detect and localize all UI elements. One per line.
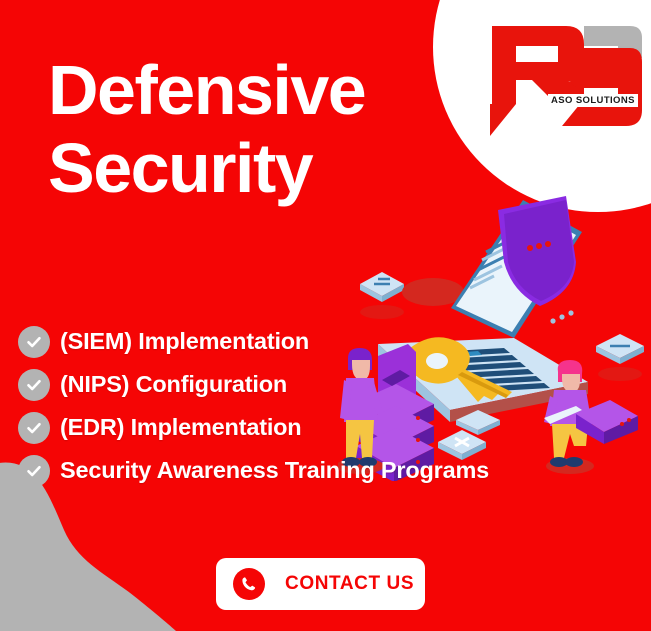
contact-us-label: CONTACT US: [285, 573, 414, 595]
logo-wordmark: ASO SOLUTIONS: [548, 94, 638, 107]
poster-canvas: ASO SOLUTIONS Defensive Security: [0, 0, 651, 631]
phone-icon: [233, 568, 265, 600]
floating-tile-icon: [596, 334, 644, 381]
list-item-label: (EDR) Implementation: [60, 414, 301, 441]
list-item-label: (NIPS) Configuration: [60, 371, 287, 398]
check-circle-icon: [18, 455, 50, 487]
feature-list: (SIEM) Implementation (NIPS) Configurati…: [18, 320, 489, 492]
page-title-line2: Security: [48, 129, 365, 207]
check-circle-icon: [18, 412, 50, 444]
list-item: (SIEM) Implementation: [18, 320, 489, 363]
check-circle-icon: [18, 369, 50, 401]
floating-tile-icon: [360, 272, 404, 319]
list-item: (NIPS) Configuration: [18, 363, 489, 406]
contact-us-button[interactable]: CONTACT US: [216, 558, 425, 610]
list-item: Security Awareness Training Programs: [18, 449, 489, 492]
page-title-line1: Defensive: [48, 51, 365, 129]
page-title: Defensive Security: [48, 51, 365, 207]
rs-monogram-icon: [480, 18, 645, 143]
list-item-label: (SIEM) Implementation: [60, 328, 309, 355]
check-circle-icon: [18, 326, 50, 358]
list-item-label: Security Awareness Training Programs: [60, 457, 489, 484]
list-item: (EDR) Implementation: [18, 406, 489, 449]
